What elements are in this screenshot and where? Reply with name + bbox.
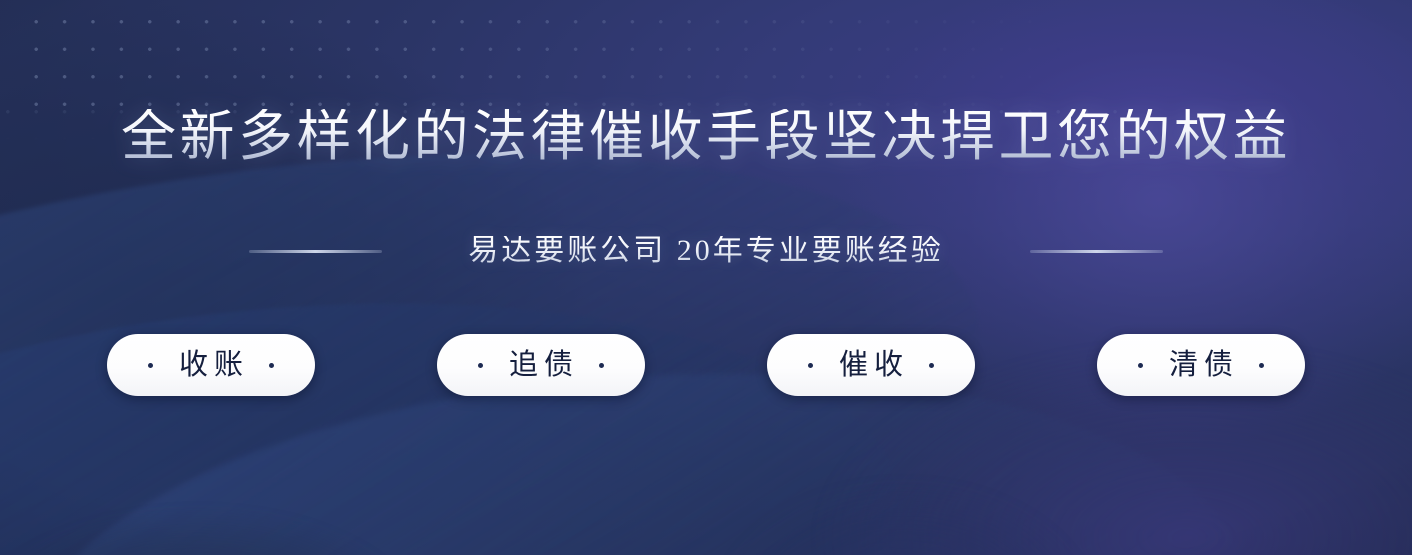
service-pill-qingzhai[interactable]: 清债 (1097, 334, 1305, 396)
service-pill-label: 追债 (503, 351, 579, 380)
banner-content: 全新多样化的法律催收手段坚决捍卫您的权益 易达要账公司 20年专业要账经验 收账… (0, 0, 1412, 555)
bullet-dot-icon (1138, 363, 1143, 368)
rule-right-icon (1030, 250, 1163, 253)
headline: 全新多样化的法律催收手段坚决捍卫您的权益 (121, 109, 1291, 164)
rule-left-icon (249, 250, 382, 253)
service-pill-shouzhang[interactable]: 收账 (107, 334, 315, 396)
promo-banner: 全新多样化的法律催收手段坚决捍卫您的权益 易达要账公司 20年专业要账经验 收账… (0, 0, 1412, 555)
subtitle: 易达要账公司 20年专业要账经验 (468, 236, 944, 266)
bullet-dot-icon (1259, 363, 1264, 368)
service-pill-label: 清债 (1163, 351, 1239, 380)
service-pill-label: 催收 (833, 351, 909, 380)
bullet-dot-icon (269, 363, 274, 368)
service-pill-row: 收账 追债 催收 清债 (107, 334, 1305, 396)
bullet-dot-icon (478, 363, 483, 368)
subtitle-row: 易达要账公司 20年专业要账经验 (249, 236, 1163, 266)
bullet-dot-icon (599, 363, 604, 368)
bullet-dot-icon (808, 363, 813, 368)
service-pill-cuishou[interactable]: 催收 (767, 334, 975, 396)
bullet-dot-icon (148, 363, 153, 368)
service-pill-label: 收账 (173, 351, 249, 380)
bullet-dot-icon (929, 363, 934, 368)
service-pill-zhuizhai[interactable]: 追债 (437, 334, 645, 396)
